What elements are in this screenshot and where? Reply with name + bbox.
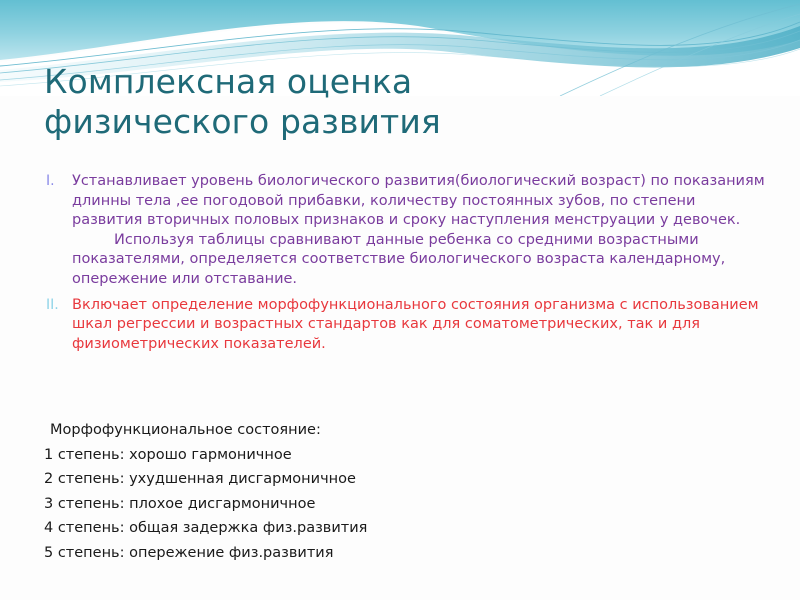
slide-title-line-2: физического развития [44,102,744,142]
paragraph-1-2: Используя таблицы сравнивают данные ребе… [72,231,770,290]
degree-item-5: 5 степень: опережение физ.развития [44,541,644,566]
roman-list-item-2: II. Включает определение морфофункционал… [40,296,770,355]
degrees-heading: Морфофункциональное состояние: [44,418,644,443]
slide-body: I. Устанавливает уровень биологического … [40,172,770,354]
degree-item-2: 2 степень: ухудшенная дисгармоничное [44,467,644,492]
slide-title: Комплексная оценка физического развития [44,62,744,142]
paragraph-1-1: Устанавливает уровень биологического раз… [72,172,770,231]
degree-item-4: 4 степень: общая задержка физ.развития [44,516,644,541]
roman-body-1: Устанавливает уровень биологического раз… [72,172,770,290]
degree-item-1: 1 степень: хорошо гармоничное [44,443,644,468]
roman-marker-1: I. [46,172,55,191]
morphofunctional-state-list: Морфофункциональное состояние: 1 степень… [44,418,644,565]
roman-list-item-1: I. Устанавливает уровень биологического … [40,172,770,290]
roman-marker-2: II. [46,296,59,315]
slide-title-line-1: Комплексная оценка [44,62,744,102]
degree-item-3: 3 степень: плохое дисгармоничное [44,492,644,517]
roman-body-2: Включает определение морфофункциональног… [72,296,770,355]
paragraph-2-1: Включает определение морфофункциональног… [72,296,770,355]
presentation-slide: Комплексная оценка физического развития … [0,0,800,600]
